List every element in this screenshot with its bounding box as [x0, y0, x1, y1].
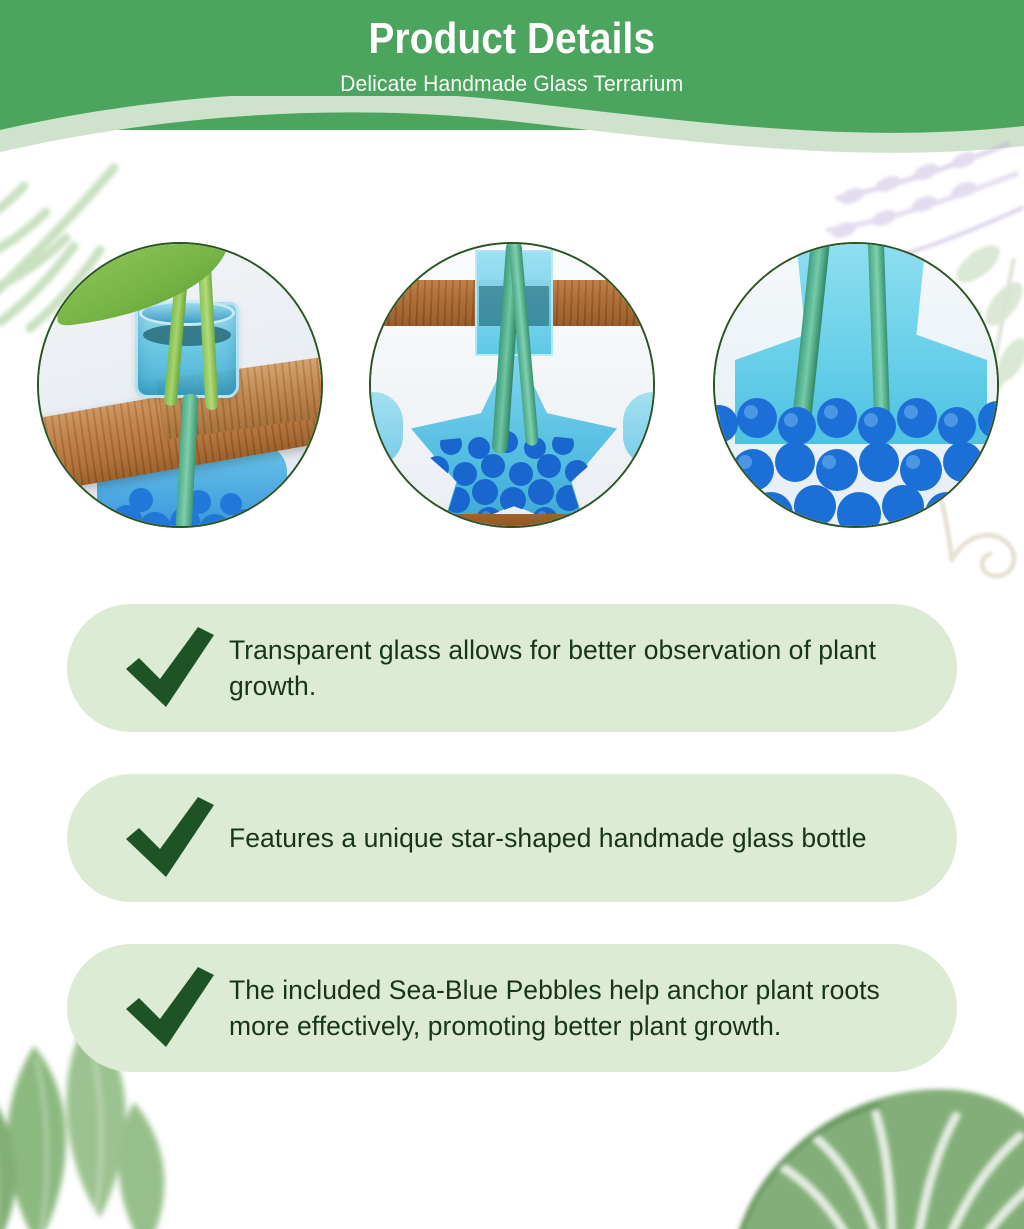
photo-star-shaped-bottle-with-pebbles: [369, 242, 655, 528]
page-subtitle: Delicate Handmade Glass Terrarium: [340, 70, 683, 98]
feature-text-1: Transparent glass allows for better obse…: [229, 632, 957, 704]
product-photo-row: [0, 240, 1024, 532]
feature-item-3: The included Sea-Blue Pebbles help ancho…: [67, 944, 957, 1072]
photo-glass-cup-on-wooden-shelf: [37, 242, 323, 528]
check-icon: [111, 795, 229, 881]
feature-item-1: Transparent glass allows for better obse…: [67, 604, 957, 732]
feature-text-2: Features a unique star-shaped handmade g…: [229, 820, 907, 856]
pebbles-shape: [111, 480, 279, 528]
feature-list: Transparent glass allows for better obse…: [0, 604, 1024, 1114]
feature-item-2: Features a unique star-shaped handmade g…: [67, 774, 957, 902]
header-text-block: Product Details Delicate Handmade Glass …: [0, 0, 1024, 130]
pebbles-shape: [713, 394, 999, 528]
check-icon: [111, 965, 229, 1051]
page-title: Product Details: [369, 14, 656, 64]
photo-sea-blue-pebbles-closeup: [713, 242, 999, 528]
check-icon: [111, 625, 229, 711]
page-header: Product Details Delicate Handmade Glass …: [0, 0, 1024, 172]
product-details-infographic: Product Details Delicate Handmade Glass …: [0, 0, 1024, 1229]
feature-text-3: The included Sea-Blue Pebbles help ancho…: [229, 972, 957, 1044]
